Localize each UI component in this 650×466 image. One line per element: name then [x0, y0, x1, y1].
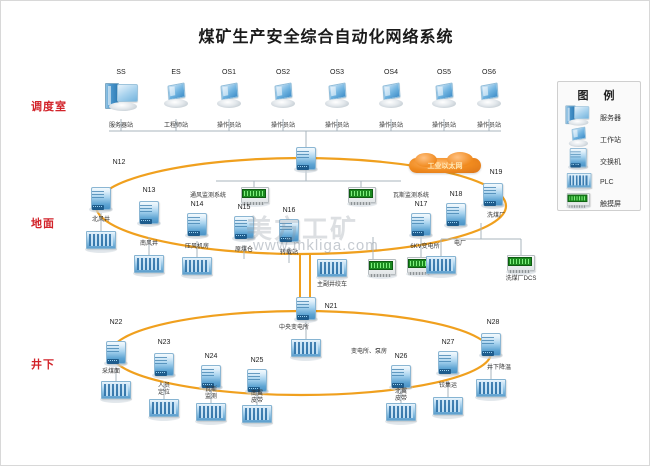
workstation-icon — [216, 83, 242, 109]
legend-item-server: 服务器 — [564, 108, 638, 128]
station-caption: 操作员站 — [477, 123, 501, 130]
switch-icon — [294, 147, 318, 173]
switch-icon — [232, 216, 256, 242]
node-caption: 瓦斯 监测 — [205, 387, 217, 401]
diagram-canvas: 煤矿生产安全综合自动化网络系统 调度室 地面 井下 — [0, 0, 650, 466]
system-label: 瓦斯监测系统 — [393, 193, 429, 200]
node-id: N21 — [325, 303, 338, 310]
station-id: ES — [171, 69, 180, 76]
touchpanel-icon — [566, 193, 591, 209]
node-id: N14 — [191, 201, 204, 208]
node-id: N22 — [110, 319, 123, 326]
workstation-icon — [476, 83, 502, 109]
legend-label: PLC — [600, 179, 614, 186]
node-id: N28 — [487, 319, 500, 326]
station-caption: 操作员站 — [379, 123, 403, 130]
legend-label: 服务器 — [600, 113, 621, 123]
node-caption: 采煤面 — [102, 369, 120, 376]
node-id: N16 — [283, 207, 296, 214]
system-label: 主副井绞车 — [317, 282, 347, 289]
node-id: N23 — [158, 339, 171, 346]
plc-icon — [290, 339, 322, 361]
legend-label: 交换机 — [600, 157, 621, 167]
switch-icon — [89, 187, 113, 213]
station-caption: 工程师站 — [164, 123, 188, 130]
station-caption: 操作员站 — [271, 123, 295, 130]
touchpanel-icon — [506, 255, 536, 275]
legend-item-switch: 交换机 — [564, 152, 638, 172]
station-id: OS3 — [330, 69, 344, 76]
plc-icon — [100, 381, 132, 403]
industrial-ethernet-cloud: 工业以太网 — [409, 156, 481, 176]
node-id: N12 — [113, 159, 126, 166]
legend-item-touchpanel: 触摸屏 — [564, 194, 638, 214]
switch-icon — [481, 183, 505, 209]
legend-item-plc: PLC — [564, 174, 638, 194]
workstation-icon — [568, 127, 589, 148]
node-caption: 铰集运 — [439, 383, 457, 390]
node-caption: 北风井 — [92, 217, 110, 224]
station-caption: 操作员站 — [217, 123, 241, 130]
server-icon — [564, 104, 590, 126]
node-caption: 压风机房 — [185, 244, 209, 251]
station-id: OS5 — [437, 69, 451, 76]
plc-icon — [432, 397, 464, 419]
plc-icon — [475, 379, 507, 401]
station-caption: 操作员站 — [432, 123, 456, 130]
legend-label: 工作站 — [600, 135, 621, 145]
switch-icon — [294, 297, 318, 323]
station-id: OS1 — [222, 69, 236, 76]
touchpanel-icon — [347, 187, 377, 207]
node-id: N15 — [238, 204, 251, 211]
legend-title: 图 例 — [558, 87, 640, 103]
switch-icon — [436, 351, 460, 377]
node-caption: 中央变电所 — [279, 325, 309, 332]
node-id: N13 — [143, 187, 156, 194]
station-id: OS4 — [384, 69, 398, 76]
node-caption: 6KV变电所 — [410, 244, 439, 251]
station-id: OS2 — [276, 69, 290, 76]
server-icon — [103, 81, 139, 111]
node-id: N27 — [442, 339, 455, 346]
switch-icon — [389, 365, 413, 391]
workstation-icon — [378, 83, 404, 109]
node-caption: 电厂 — [454, 241, 466, 248]
legend-item-workstation: 工作站 — [564, 130, 638, 150]
workstation-icon — [324, 83, 350, 109]
switch-icon — [277, 219, 301, 245]
section-label-underground: 井下 — [31, 356, 55, 372]
station-caption: 操作员站 — [325, 123, 349, 130]
legend-label: 触摸屏 — [600, 199, 621, 209]
cloud-label: 工业以太网 — [409, 161, 481, 171]
plc-icon — [425, 256, 457, 278]
node-caption: 南风井 — [140, 241, 158, 248]
plc-icon — [85, 231, 117, 253]
touchpanel-icon — [367, 259, 397, 279]
node-caption: 井下降温 — [487, 365, 511, 372]
workstation-icon — [431, 83, 457, 109]
system-label: 洗煤厂DCS — [506, 276, 537, 283]
switch-icon — [104, 341, 128, 367]
node-id: N18 — [450, 191, 463, 198]
node-caption: 北翼 皮带 — [395, 389, 407, 403]
plc-icon — [195, 403, 227, 425]
system-label: 通风监测系统 — [190, 193, 226, 200]
switch-icon — [444, 203, 468, 229]
station-id: OS6 — [482, 69, 496, 76]
workstation-icon — [163, 83, 189, 109]
switch-icon — [137, 201, 161, 227]
plc-icon — [566, 173, 592, 191]
switch-icon — [568, 148, 588, 170]
workstation-icon — [270, 83, 296, 109]
node-caption: 南翼 皮带 — [251, 391, 263, 405]
node-id: N17 — [415, 201, 428, 208]
switch-icon — [409, 213, 433, 239]
plc-icon — [316, 259, 348, 281]
legend-panel: 图 例 服务器 工作站 交换机 PLC — [557, 81, 641, 211]
page-title: 煤矿生产安全综合自动化网络系统 — [1, 23, 650, 47]
plc-icon — [148, 399, 180, 421]
node-id: N19 — [490, 169, 503, 176]
section-label-dispatch: 调度室 — [31, 98, 67, 114]
plc-icon — [181, 257, 213, 279]
system-label: 变电所、泵房 — [351, 349, 387, 356]
station-id: SS — [116, 69, 125, 76]
node-id: N24 — [205, 353, 218, 360]
section-label-surface: 地面 — [31, 215, 55, 231]
node-caption: 洗煤厂 — [487, 213, 505, 220]
switch-icon — [152, 353, 176, 379]
switch-icon — [479, 333, 503, 359]
switch-icon — [185, 213, 209, 239]
node-caption: 人员 定位 — [158, 383, 170, 397]
node-id: N25 — [251, 357, 264, 364]
node-caption: 原煤仓 — [235, 247, 253, 254]
node-caption: 转载站 — [280, 250, 298, 257]
station-caption: 服务器站 — [109, 123, 133, 130]
plc-icon — [133, 255, 165, 277]
plc-icon — [241, 405, 273, 427]
plc-icon — [385, 403, 417, 425]
node-id: N26 — [395, 353, 408, 360]
